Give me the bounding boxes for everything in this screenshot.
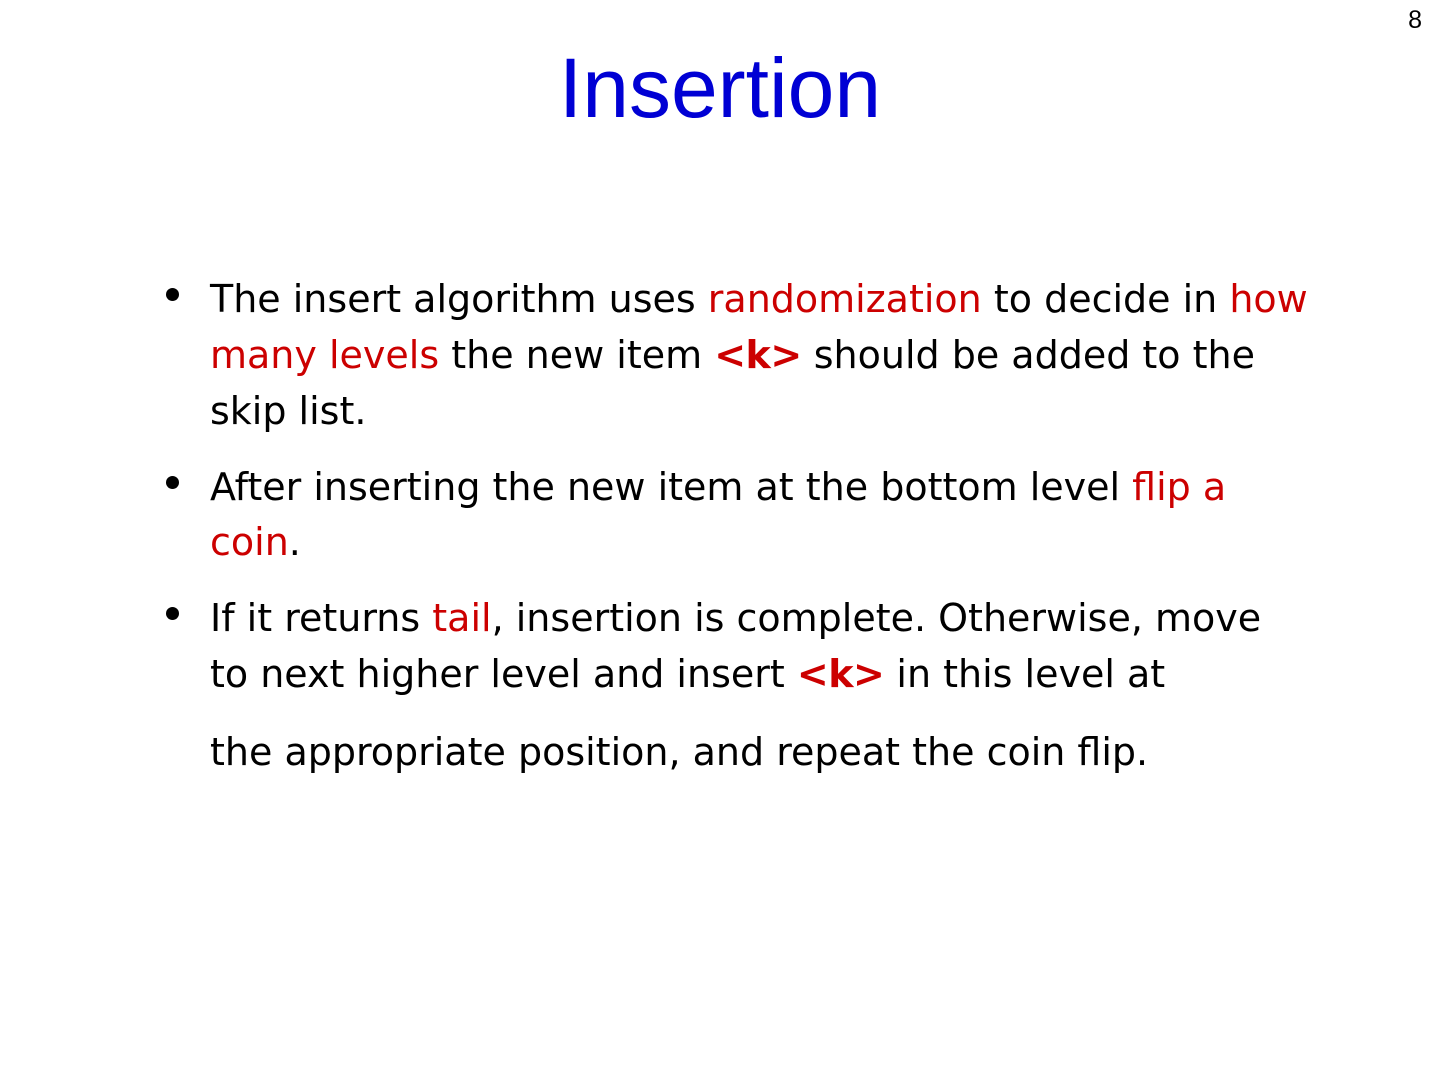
bullet-1-seg-4: the new item bbox=[439, 333, 714, 377]
bullet-3-key-token: <k> bbox=[797, 652, 884, 696]
slide-canvas: 8 Insertion The insert algorithm uses ra… bbox=[0, 0, 1440, 1080]
bullet-1-seg-2: to decide in bbox=[982, 277, 1230, 321]
bullet-3-seg-4: in this level at bbox=[884, 652, 1165, 696]
bullet-3-seg-0: If it returns bbox=[210, 596, 432, 640]
bullet-1-seg-1-highlight: randomization bbox=[708, 277, 982, 321]
bullet-dot-icon bbox=[166, 476, 179, 489]
bullet-1-key-token: <k> bbox=[714, 333, 801, 377]
page-number: 8 bbox=[1408, 8, 1422, 33]
slide-body: The insert algorithm uses randomization … bbox=[150, 272, 1310, 781]
bullet-3-seg-5: the appropriate position, and repeat the… bbox=[210, 730, 1148, 774]
page-title: Insertion bbox=[0, 44, 1440, 132]
list-item: If it returns tail, insertion is complet… bbox=[150, 591, 1310, 781]
bullet-2-seg-0: After inserting the new item at the bott… bbox=[210, 465, 1132, 509]
bullet-2-text: After inserting the new item at the bott… bbox=[210, 465, 1226, 565]
bullet-2-seg-2: . bbox=[289, 520, 301, 564]
bullet-dot-icon bbox=[166, 288, 179, 301]
bullet-3-seg-1-highlight: tail bbox=[432, 596, 491, 640]
list-item: The insert algorithm uses randomization … bbox=[150, 272, 1310, 440]
bullet-1-seg-0: The insert algorithm uses bbox=[210, 277, 708, 321]
bullet-dot-icon bbox=[166, 607, 179, 620]
bullet-1-text: The insert algorithm uses randomization … bbox=[210, 277, 1308, 433]
paragraph-spacer bbox=[210, 703, 1310, 725]
bullet-3-text: If it returns tail, insertion is complet… bbox=[210, 596, 1310, 774]
list-item: After inserting the new item at the bott… bbox=[150, 460, 1310, 572]
